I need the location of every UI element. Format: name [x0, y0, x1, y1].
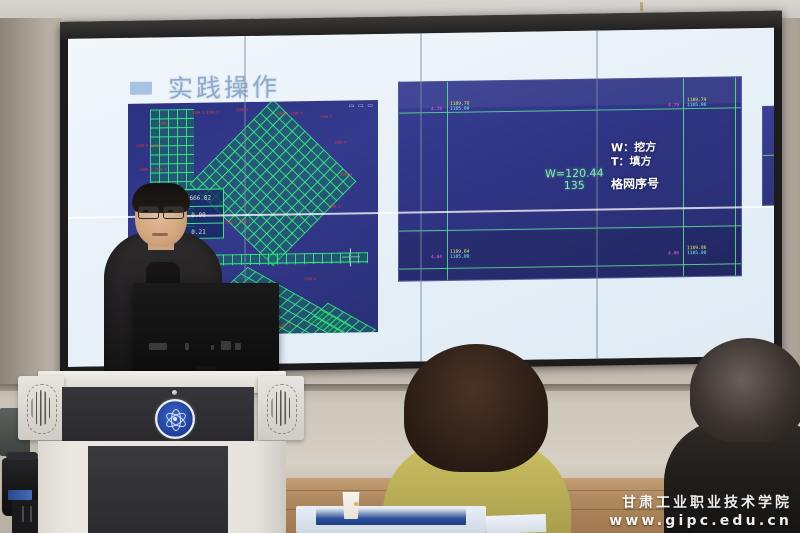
panel-seam — [420, 33, 422, 361]
cad-grid-diamond — [190, 100, 357, 266]
papers — [486, 514, 547, 533]
slide-title: 实践操作 — [130, 68, 280, 106]
corner-diff-bottom-left: 4.84 — [431, 255, 442, 260]
audience-member-1-head — [404, 344, 548, 472]
presenter-mouth — [152, 233, 168, 236]
cad-legend: W：挖方 T：填方 格网序号 — [611, 141, 659, 192]
watermark-url: www.gipc.edu.cn — [609, 513, 792, 529]
corner-diff-bottom-right: 4.86 — [668, 251, 679, 256]
corner-diff-top-left: 4.78 — [431, 107, 442, 112]
corner-label-bottom-right: 1189.86 1185.00 — [687, 246, 706, 257]
school-emblem — [155, 399, 195, 439]
podium-base-panel — [88, 446, 228, 533]
podium-screw — [172, 390, 177, 395]
podium-left-speaker — [18, 376, 64, 440]
paper-cup — [341, 492, 361, 519]
booklet — [316, 508, 466, 525]
corner-label-top-right: 1189.79 1185.00 — [687, 98, 706, 109]
podium-right-speaker — [258, 376, 304, 440]
ceiling-hook — [640, 2, 643, 11]
watermark-institution: 甘肃工业职业技术学院 — [609, 492, 792, 512]
panel-seam — [596, 31, 598, 359]
square-bullet-icon — [130, 81, 152, 94]
corner-diff-top-right: 4.79 — [668, 103, 679, 108]
watermark: 甘肃工业职业技术学院 www.gipc.edu.cn — [609, 492, 792, 529]
cad-screenshot-center: 1189.78 1185.00 4.78 1189.79 1185.00 4.7… — [398, 76, 742, 281]
atom-icon — [165, 409, 185, 429]
cad-screenshot-right — [762, 105, 774, 206]
cell-value-annotation: W=120.44 135 — [545, 167, 604, 192]
corner-label-top-left: 1189.78 1185.00 — [450, 102, 469, 113]
cad-window-buttons: ▭ ▭ ▭ — [349, 102, 374, 109]
podium-monitor — [133, 283, 279, 371]
lecture-room-photo: 实践操作 ▭ ▭ ▭ 1188.6 1189.2 1189.0 1188.4 1… — [0, 0, 800, 533]
cup-decoration — [354, 502, 358, 506]
audience-member-2-head — [690, 338, 800, 442]
slide-title-text: 实践操作 — [168, 68, 280, 106]
corner-label-bottom-left: 1189.84 1185.00 — [450, 250, 469, 261]
wall-left-column — [0, 18, 62, 390]
